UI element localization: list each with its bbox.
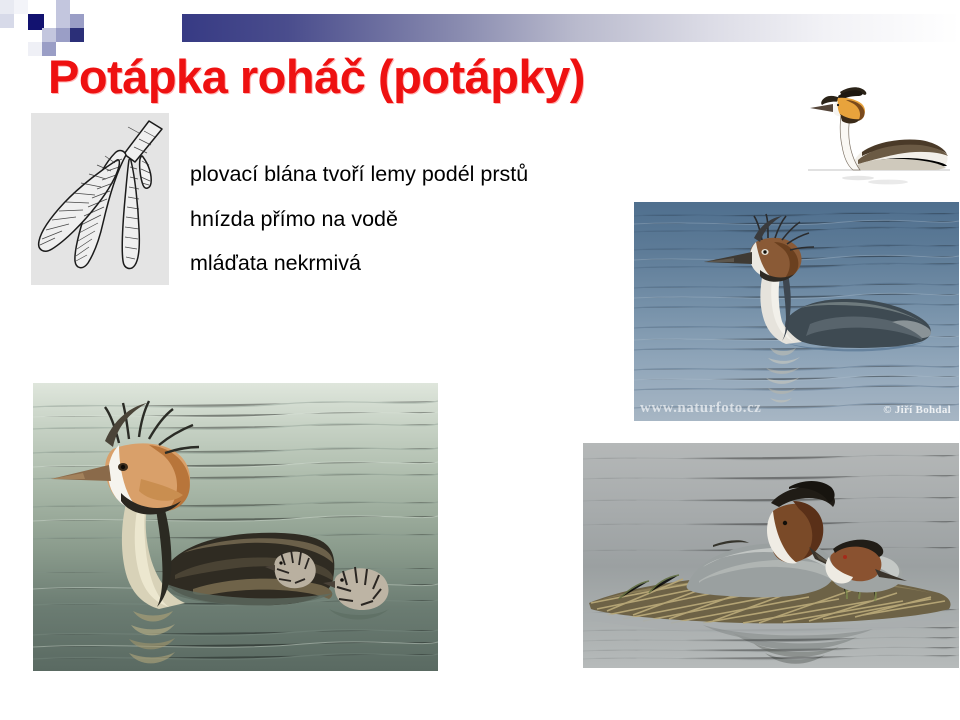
grebe-chicks-image — [33, 383, 438, 671]
bullet-item: mláďata nekrmivá — [190, 252, 361, 274]
grebe-with-chicks-photo — [33, 383, 438, 671]
square-dark-row3 — [70, 28, 84, 42]
great-crested-grebe-swimming-photo: www.naturfoto.cz © Jiří Bohdal — [634, 202, 959, 421]
grebes-on-floating-nest-photo — [583, 443, 959, 668]
square-light-row2 — [56, 14, 70, 28]
great-crested-grebe-illustration — [800, 74, 958, 192]
grebe-nest-image — [583, 443, 959, 668]
lobed-foot-diagram — [31, 113, 169, 285]
square-light-top — [56, 0, 70, 14]
lobed-foot-drawing-icon — [31, 113, 169, 285]
grebe-illustration-icon — [800, 74, 958, 192]
bullet-item: hnízda přímo na vodě — [190, 208, 398, 230]
square-mid-row3 — [56, 28, 70, 42]
square-pale-row2 — [0, 14, 14, 28]
grebe-swimming-image — [634, 202, 959, 421]
square-pale-row4 — [28, 42, 42, 56]
square-pale-top-2 — [14, 0, 28, 14]
bullet-item: plovací blána tvoří lemy podél prstů — [190, 163, 528, 185]
square-pale-top — [0, 0, 14, 14]
page-title: Potápka roháč (potápky) — [48, 48, 848, 106]
square-mid-row2 — [70, 14, 84, 28]
square-light-row3 — [42, 28, 56, 42]
